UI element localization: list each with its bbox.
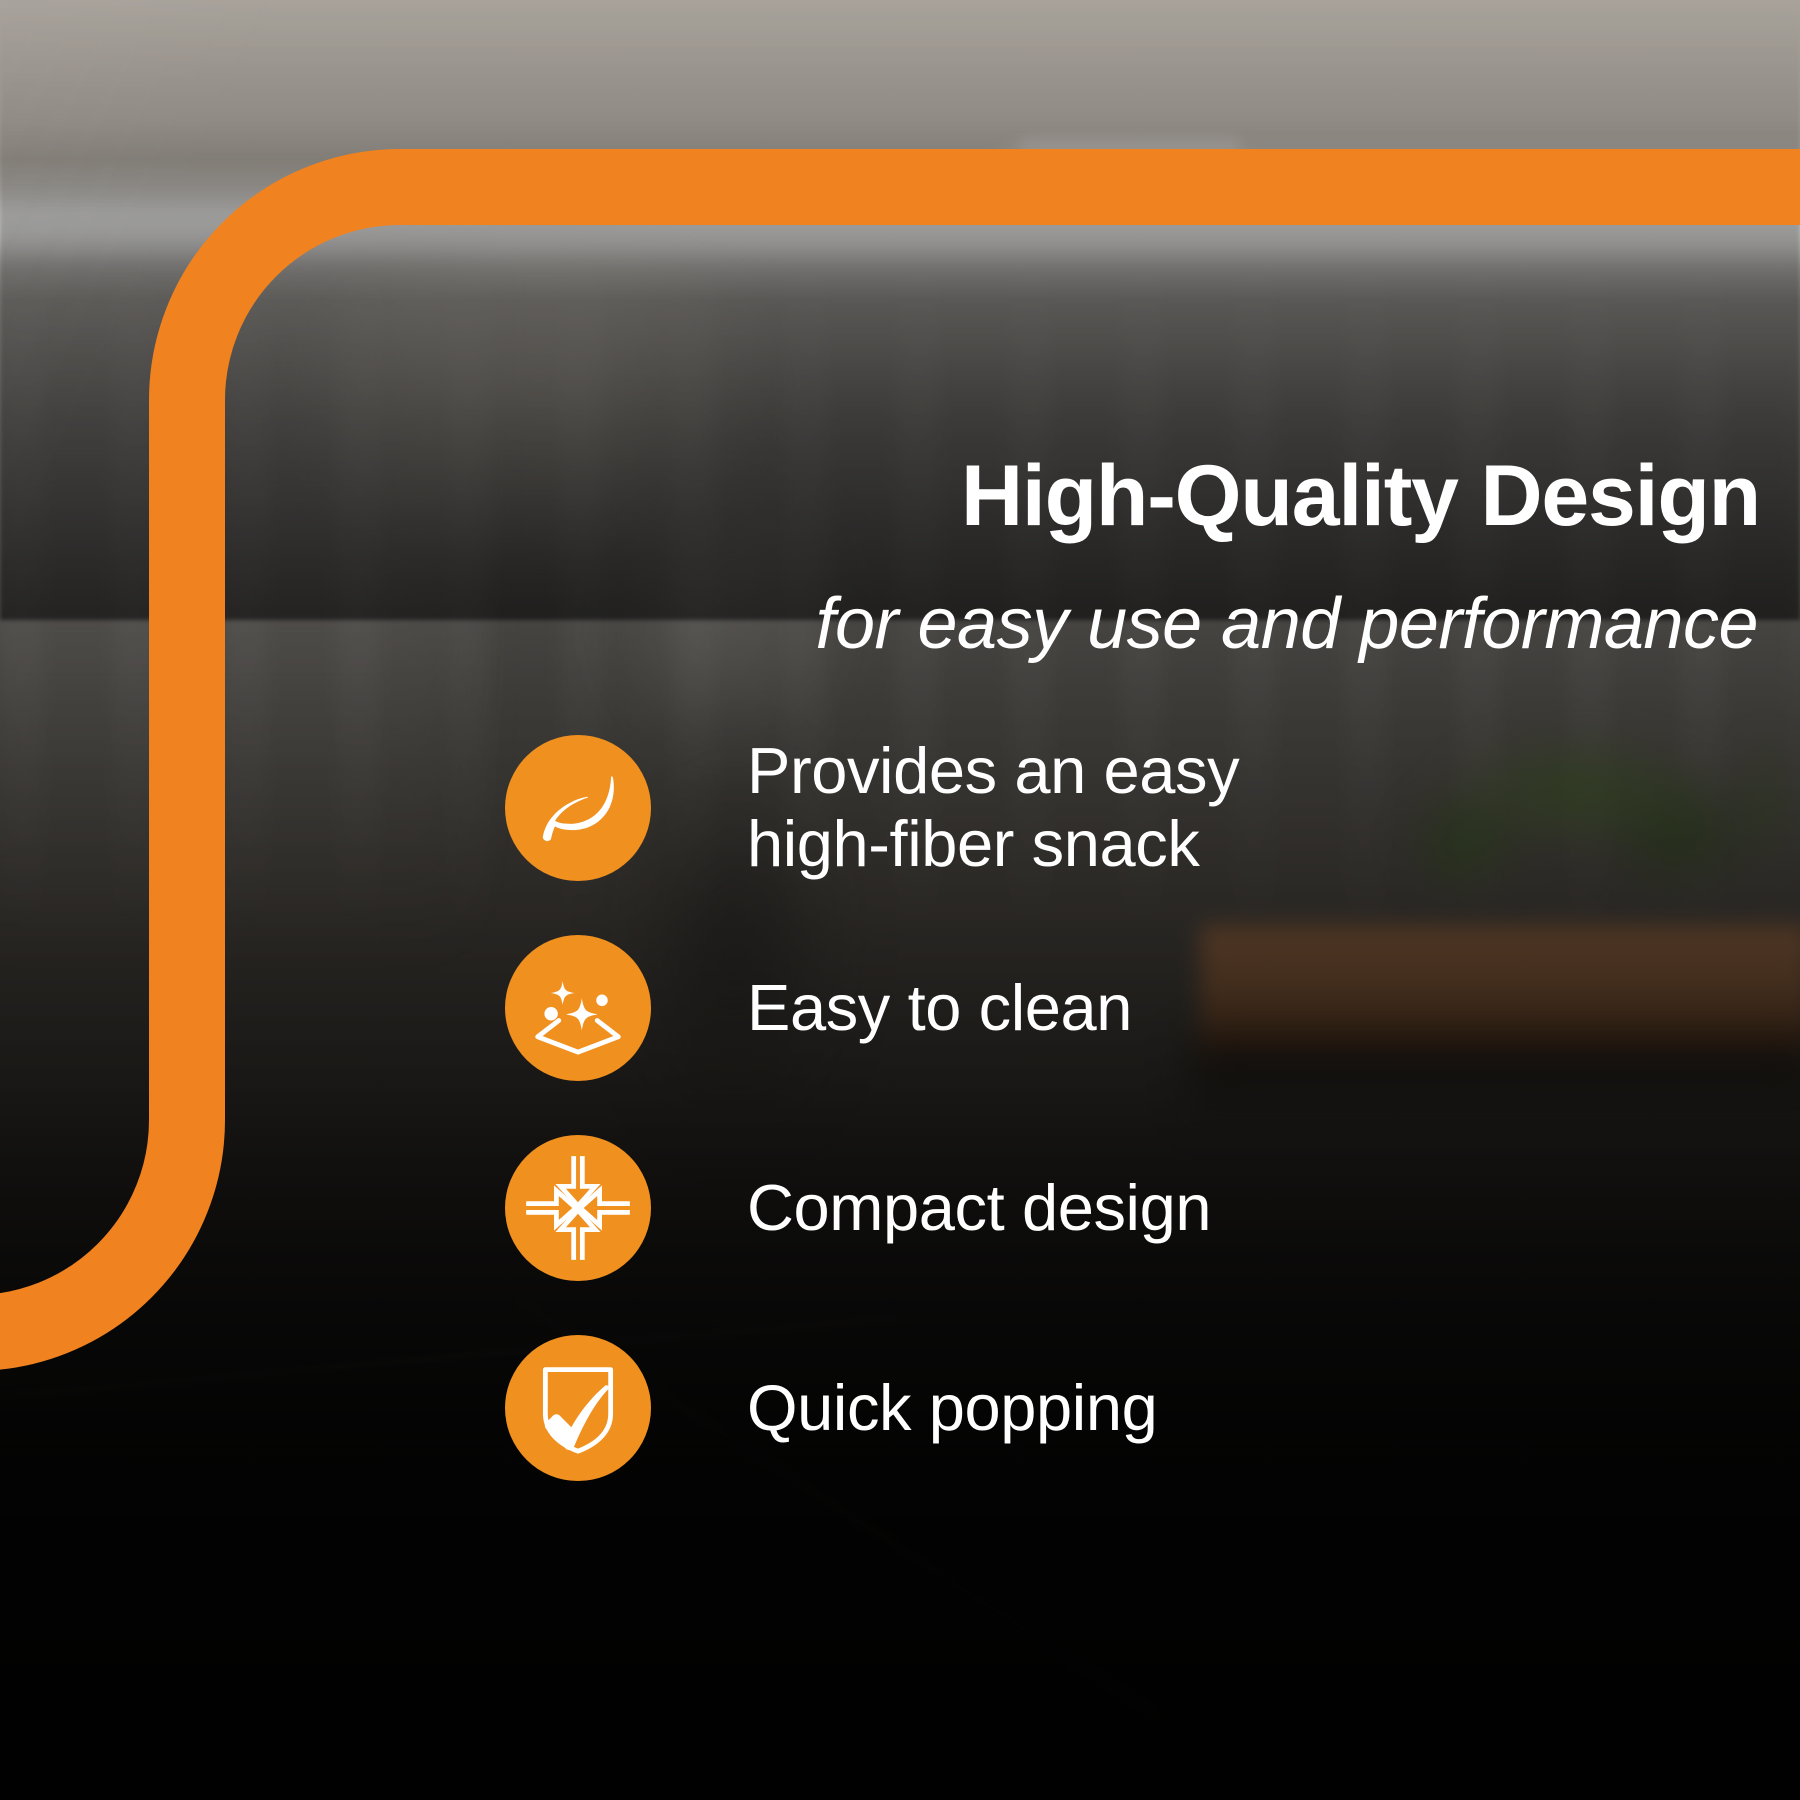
compress-arrows-icon (505, 1135, 651, 1281)
feature-item-easy-to-clean: Easy to clean (505, 935, 1705, 1081)
feature-item-quick-popping: Quick popping (505, 1335, 1705, 1481)
shield-check-icon (505, 1335, 651, 1481)
page-title: High-Quality Design (0, 453, 1760, 539)
content-overlay: High-Quality Design for easy use and per… (0, 0, 1800, 1800)
product-feature-infographic: High-Quality Design for easy use and per… (0, 0, 1800, 1800)
feature-list: Provides an easy high-fiber snack Eas (505, 735, 1705, 1481)
feature-label: Quick popping (747, 1372, 1157, 1445)
feature-label: Compact design (747, 1172, 1211, 1245)
feature-item-compact-design: Compact design (505, 1135, 1705, 1281)
leaf-icon (505, 735, 651, 881)
page-subtitle: for easy use and performance (0, 588, 1758, 660)
feature-label: Provides an easy high-fiber snack (747, 735, 1239, 881)
feature-label: Easy to clean (747, 972, 1132, 1045)
feature-item-high-fiber-snack: Provides an easy high-fiber snack (505, 735, 1705, 881)
sparkle-surface-icon (505, 935, 651, 1081)
